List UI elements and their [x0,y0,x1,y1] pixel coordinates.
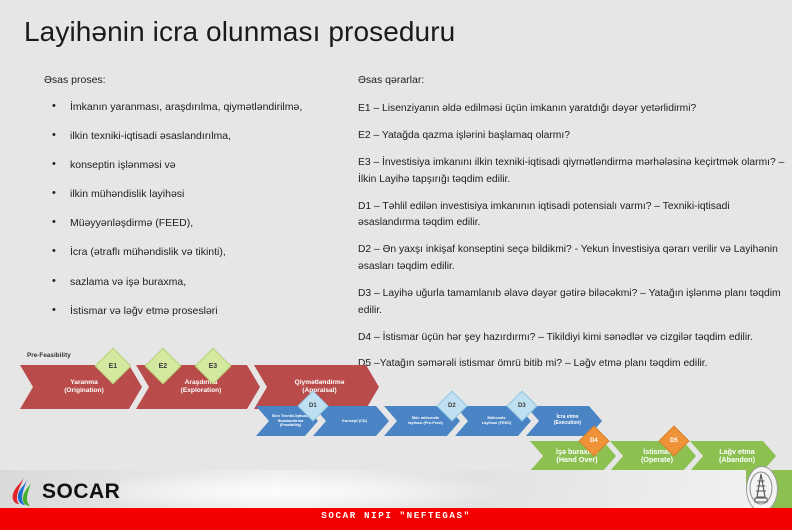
socar-logo-text: SOCAR [42,480,120,504]
gate-label: D2 [448,403,456,409]
decision-item: D1 – Təhlil edilən investisiya imkanının… [358,199,786,232]
decision-item: E3 – İnvestisiya imkanını ilkin texniki-… [358,155,786,188]
stage-concept: Konsept (CD) [313,406,389,436]
slide-footer: SOCAR SOCAR NIPI "NEFTEGAS" [0,470,792,530]
left-column-heading: Əsas proses: [44,74,349,86]
decision-item: E2 – Yatağda qazma işlərini başlamaq ola… [358,128,786,145]
gate-label: D1 [309,403,317,409]
stage-label-line2: (Execution) [554,420,581,426]
gate-label: E1 [109,363,118,370]
stage-label-line2: (Abandon) [719,455,755,464]
left-column: Əsas proses: İmkanın yaranması, araşdırı… [44,74,349,334]
list-item: ilkin mühəndislik layihəsi [44,188,349,201]
slide-canvas: Layihənin icra olunması proseduru Əsas p… [0,0,792,530]
decision-item: E1 – Lisenziyanın əldə edilməsi üçün imk… [358,101,786,118]
list-item: İstismar və ləğv etmə prosesləri [44,305,349,318]
stage-label-line2: (Operate) [641,455,673,464]
right-column-heading: Əsas qərarlar: [358,74,786,86]
stage-label-line2: (Exploration) [181,387,222,394]
process-bullet-list: İmkanın yaranması, araşdırılma, qiymətlə… [44,101,349,317]
stage-label-line1: Yaranma [70,379,98,386]
decision-item: D4 – İstismar üçün hər şey hazırdırmı? –… [358,330,786,347]
list-item: konseptin işlənməsi və [44,159,349,172]
nipi-emblem-icon [746,466,778,512]
footer-bar-text: SOCAR NIPI "NEFTEGAS" [0,510,792,521]
stage-label-line1: Konsept (CD) [342,418,367,423]
list-item: Müəyyənləşdirmə (FEED), [44,217,349,230]
socar-logo: SOCAR [10,477,120,507]
socar-flame-icon [10,477,36,507]
stage-label-line1: Qiymətləndirmə [295,379,345,386]
gate-label: D5 [670,438,678,444]
gate-label: D3 [518,403,526,409]
gate-label: D4 [590,438,598,444]
process-flow-diagram: Pre-Feasibility Yaranma (Origination) Ar… [0,348,792,470]
stage-label-line2: (Hand Over) [556,455,597,464]
list-item: İmkanın yaranması, araşdırılma, qiymətlə… [44,101,349,114]
stage-label-line2: (Origination) [64,387,104,394]
right-column: Əsas qərarlar: E1 – Lisenziyanın əldə ed… [358,74,786,375]
page-title: Layihənin icra olunması proseduru [24,16,455,48]
decision-item: D3 – Layihə uğurla tamamlanıb əlavə dəyə… [358,286,786,319]
stage-label-line2: (Appraisal) [302,387,336,394]
stage-label-line2: Layihəsi (FEED) [482,420,512,425]
list-item: sazlama və işə buraxma, [44,276,349,289]
phase-label-pre-feasibility: Pre-Feasibility [27,352,71,359]
gate-label: E2 [159,363,168,370]
gate-label: E3 [209,363,218,370]
decision-list: E1 – Lisenziyanın əldə edilməsi üçün imk… [358,101,786,373]
decision-item: D2 – Ən yaxşı inkişaf konseptini seçə bi… [358,242,786,275]
stage-label-line2: Əsaslandırma (Feasibility) [278,418,304,428]
stage-label-line2: layihəsi (Pre-Feed) [408,420,443,425]
list-item: ilkin texniki-iqtisadi əsaslandırılma, [44,130,349,143]
list-item: İcra (ətraflı mühəndislik və tikinti), [44,246,349,259]
